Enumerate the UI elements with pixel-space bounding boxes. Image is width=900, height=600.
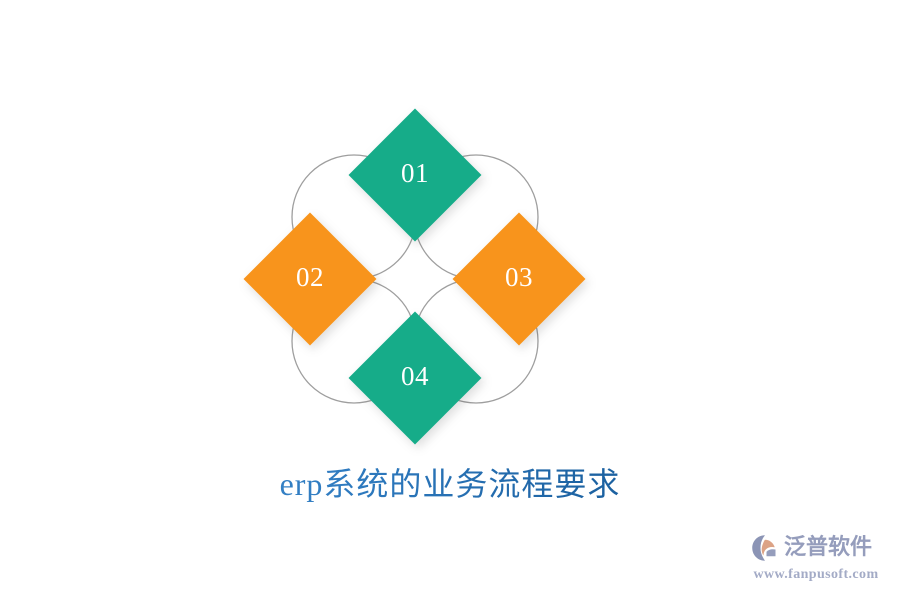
page-canvas: 01 02 03 04 erp系统的业务流程要求 (0, 0, 900, 600)
four-step-diamond-diagram: 01 02 03 04 (0, 0, 900, 470)
fanpu-logo-icon (750, 533, 780, 563)
watermark-row: 泛普软件 (750, 530, 882, 566)
node-02-label: 02 (296, 262, 324, 292)
node-02[interactable]: 02 (244, 213, 377, 346)
watermark: 泛普软件 www.fanpusoft.com (750, 530, 882, 588)
watermark-brand: 泛普软件 (784, 533, 872, 563)
node-01[interactable]: 01 (349, 109, 482, 242)
node-01-label: 01 (401, 158, 429, 188)
node-03-label: 03 (505, 262, 533, 292)
node-04-label: 04 (401, 361, 429, 391)
diagram-container: 01 02 03 04 (0, 0, 900, 470)
diagram-title: erp系统的业务流程要求 (0, 462, 900, 506)
node-04[interactable]: 04 (349, 312, 482, 445)
watermark-url: www.fanpusoft.com (750, 567, 882, 583)
node-03[interactable]: 03 (453, 213, 586, 346)
